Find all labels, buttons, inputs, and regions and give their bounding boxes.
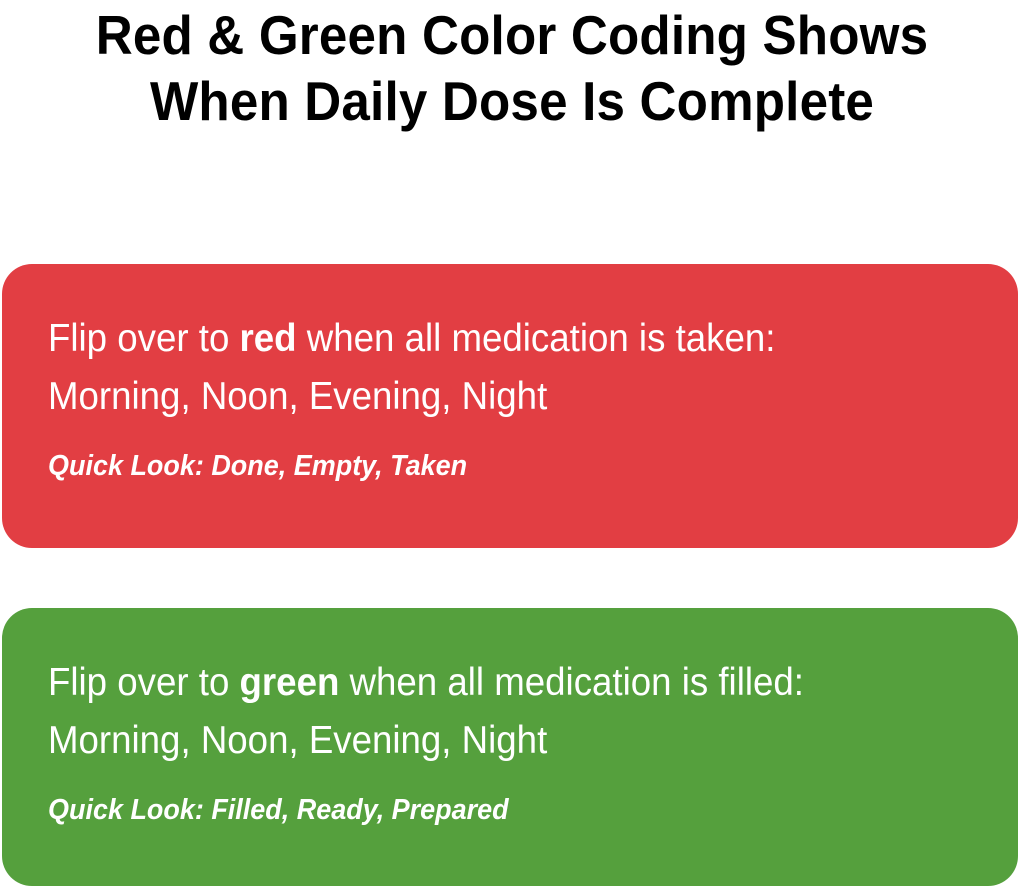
- red-card-main-line-2: Morning, Noon, Evening, Night: [48, 368, 917, 426]
- green-card-main-line-1-suffix: when all medication is filled:: [339, 661, 804, 704]
- red-card-highlight-word: red: [240, 317, 297, 360]
- red-card-quick-look: Quick Look: Done, Empty, Taken: [48, 448, 907, 484]
- red-card-main-line-1-suffix: when all medication is taken:: [297, 317, 776, 360]
- green-card-main-line-2: Morning, Noon, Evening, Night: [48, 712, 917, 770]
- green-card-main-line-1: Flip over to green when all medication i…: [48, 654, 917, 712]
- green-status-card: Flip over to green when all medication i…: [2, 608, 1018, 886]
- green-card-quick-look: Quick Look: Filled, Ready, Prepared: [48, 792, 907, 828]
- page-title-line-2: When Daily Dose Is Complete: [36, 68, 988, 134]
- green-card-main-line-1-prefix: Flip over to: [48, 661, 240, 704]
- page-title: Red & Green Color Coding Shows When Dail…: [0, 0, 1024, 134]
- green-card-main-text: Flip over to green when all medication i…: [48, 654, 917, 770]
- red-status-card: Flip over to red when all medication is …: [2, 264, 1018, 548]
- page-title-line-1: Red & Green Color Coding Shows: [36, 2, 988, 68]
- red-card-main-line-1-prefix: Flip over to: [48, 317, 240, 360]
- red-card-main-line-1: Flip over to red when all medication is …: [48, 310, 917, 368]
- red-card-main-text: Flip over to red when all medication is …: [48, 310, 917, 426]
- green-card-highlight-word: green: [240, 661, 340, 704]
- infographic-page: Red & Green Color Coding Shows When Dail…: [0, 0, 1024, 892]
